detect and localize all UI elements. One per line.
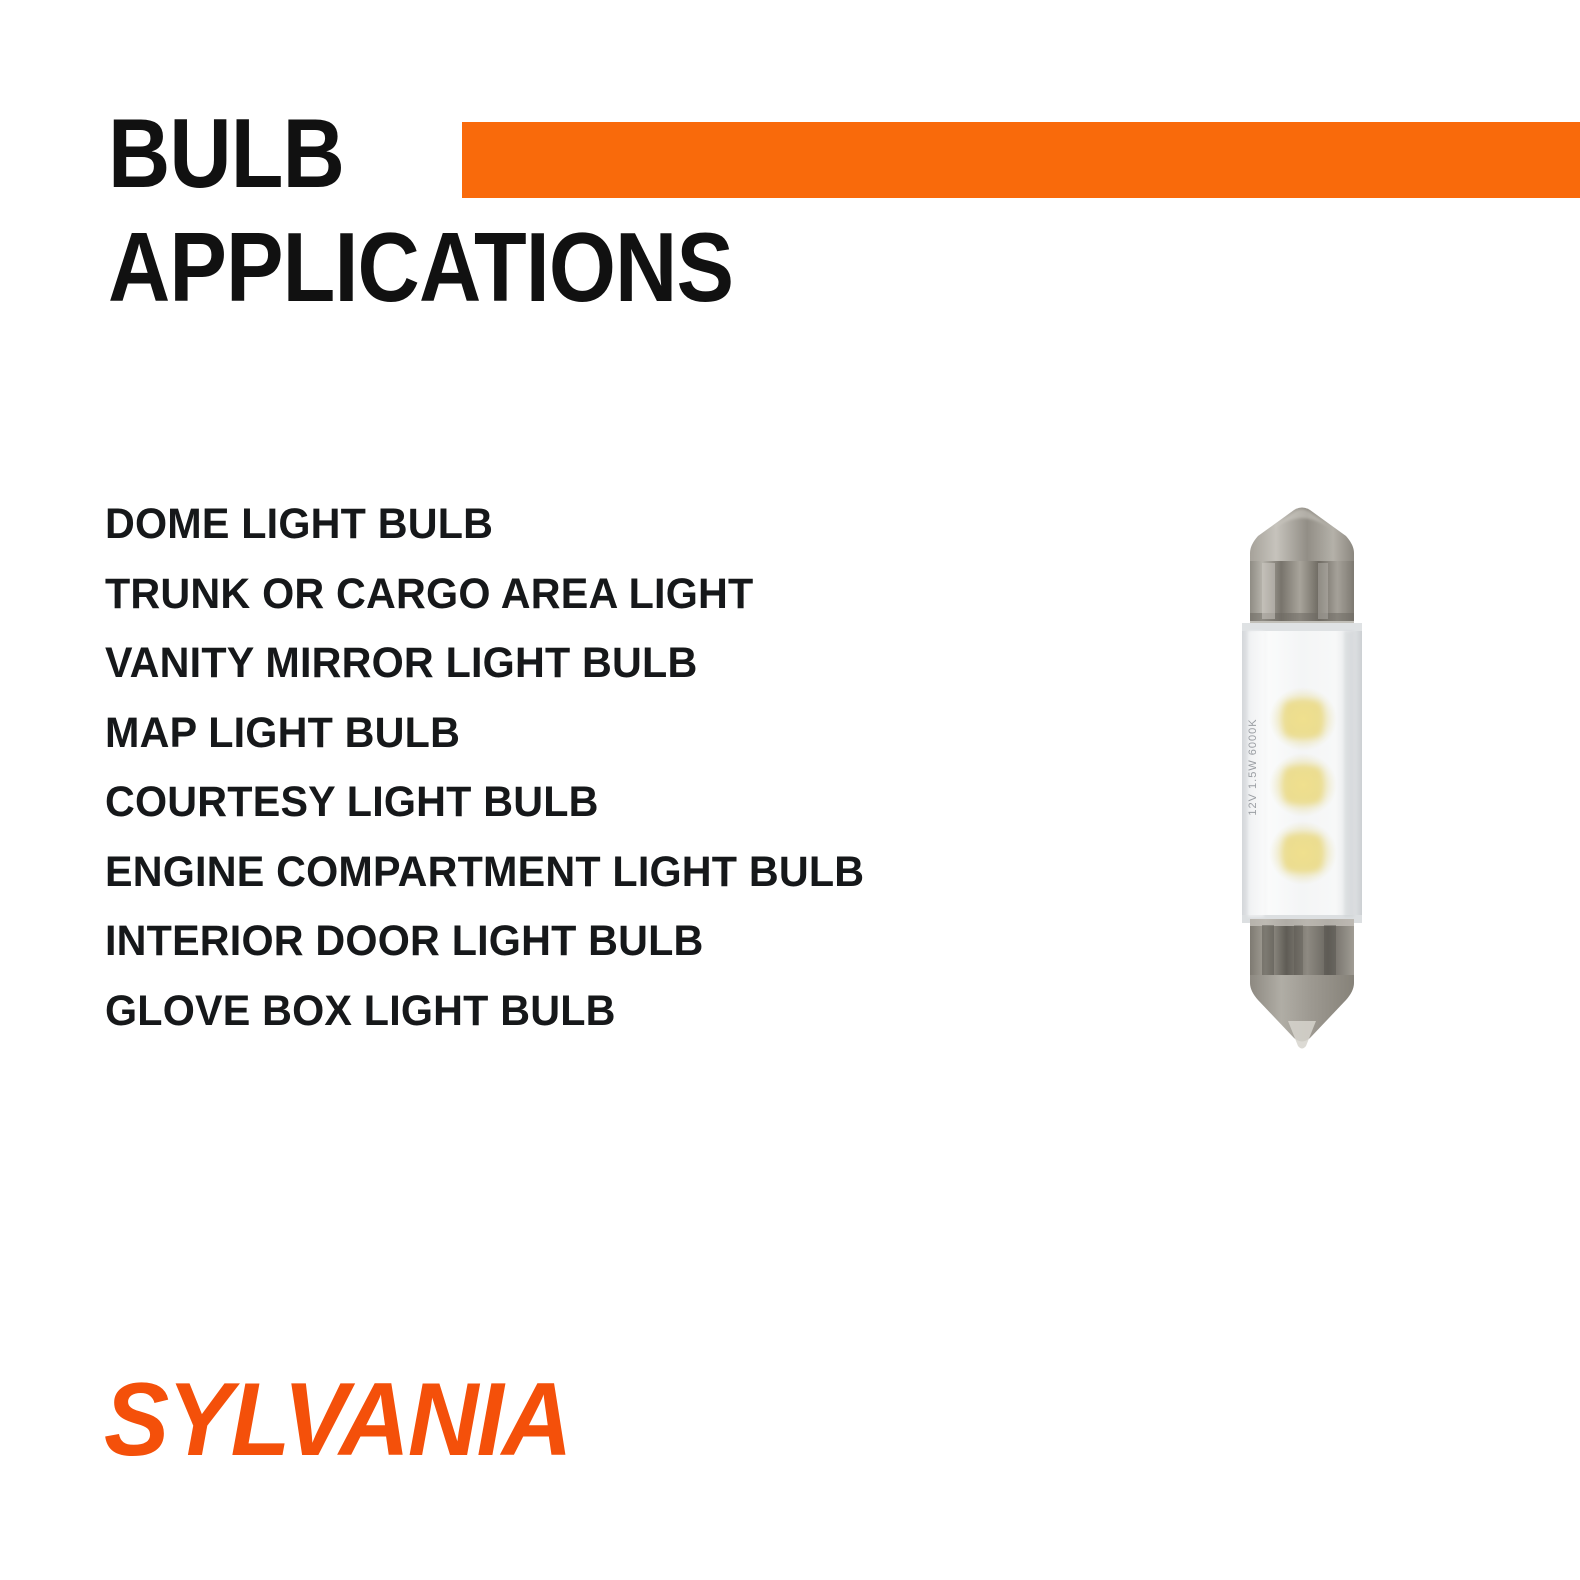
bulb-side-print: 12V 1.5W 6000K xyxy=(1247,718,1259,815)
page-title-line-2: APPLICATIONS xyxy=(108,218,733,316)
list-item: COURTESY LIGHT BULB xyxy=(105,780,1046,850)
list-item: TRUNK OR CARGO AREA LIGHT xyxy=(105,572,1046,642)
orange-accent-bar xyxy=(462,122,1580,198)
list-item: GLOVE BOX LIGHT BULB xyxy=(105,989,1046,1059)
page-title-line-1: BULB xyxy=(108,104,344,202)
header: BULB APPLICATIONS xyxy=(0,0,1580,360)
bulb-applications-list: DOME LIGHT BULB TRUNK OR CARGO AREA LIGH… xyxy=(105,502,1085,1058)
sylvania-logo: SYLVANIA xyxy=(104,1360,684,1480)
list-item: DOME LIGHT BULB xyxy=(105,502,1046,572)
bulb-bottom-cap xyxy=(1250,919,1354,1049)
sylvania-logo-text: SYLVANIA xyxy=(104,1360,649,1480)
bulb-top-cap xyxy=(1250,508,1354,628)
product-image-festoon-led-bulb: 12V 1.5W 6000K xyxy=(1232,505,1372,1053)
led-glow xyxy=(1269,687,1337,885)
list-item: VANITY MIRROR LIGHT BULB xyxy=(105,641,1046,711)
list-item: MAP LIGHT BULB xyxy=(105,711,1046,781)
bulb-glass-body: 12V 1.5W 6000K xyxy=(1242,623,1362,923)
infographic-page: BULB APPLICATIONS DOME LIGHT BULB TRUNK … xyxy=(0,0,1580,1580)
list-item: INTERIOR DOOR LIGHT BULB xyxy=(105,919,1046,989)
list-item: ENGINE COMPARTMENT LIGHT BULB xyxy=(105,850,1046,920)
